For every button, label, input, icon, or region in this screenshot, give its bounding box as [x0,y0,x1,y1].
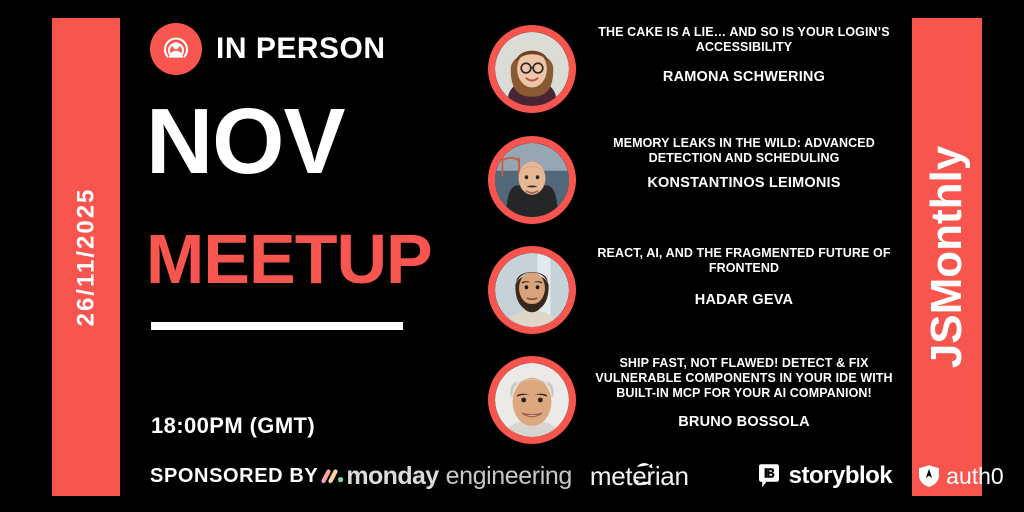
avatar [488,25,576,113]
month-heading: NOV [146,100,345,184]
speaker-name: BRUNO BOSSOLA [586,414,902,430]
talk-title: SHIP FAST, NOT FLAWED! DETECT & FIX VULN… [586,356,902,400]
speakers-list: THE CAKE IS A LIE… AND SO IS YOUR LOGIN’… [488,0,908,512]
in-person-broadcast-icon [150,23,202,75]
meetup-poster: 26/11/2025 JSMonthly IN PERSON NOV MEETU… [0,0,1024,512]
speaker-text: REACT, AI, AND THE FRAGMENTED FUTURE OF … [576,246,908,308]
avatar [488,136,576,224]
speaker-name: RAMONA SCHWERING [586,69,902,85]
meetup-heading: MEETUP [146,228,432,291]
speaker-row: REACT, AI, AND THE FRAGMENTED FUTURE OF … [488,246,908,334]
event-info-column: IN PERSON NOV MEETUP 18:00PM (GMT) [150,0,480,512]
auth0-wordmark: auth0 [946,463,1004,490]
brand-sidebar: JSMonthly [912,18,982,496]
speaker-text: SHIP FAST, NOT FLAWED! DETECT & FIX VULN… [576,356,908,430]
talk-title: THE CAKE IS A LIE… AND SO IS YOUR LOGIN’… [586,25,902,55]
in-person-label: IN PERSON [216,32,386,66]
talk-title: MEMORY LEAKS IN THE WILD: ADVANCED DETEC… [586,136,902,166]
event-date: 26/11/2025 [72,188,100,327]
date-sidebar: 26/11/2025 [52,18,120,496]
avatar [488,356,576,444]
auth0-shield-icon [918,464,940,488]
speaker-name: HADAR GEVA [586,292,902,308]
monday-slashes-icon [320,465,346,487]
event-time: 18:00PM (GMT) [151,413,315,439]
divider-rule [151,322,403,330]
talk-title: REACT, AI, AND THE FRAGMENTED FUTURE OF … [586,246,902,276]
speaker-row: THE CAKE IS A LIE… AND SO IS YOUR LOGIN’… [488,25,908,113]
sponsored-by-label: SPONSORED BY [150,465,318,488]
avatar [488,246,576,334]
speaker-text: THE CAKE IS A LIE… AND SO IS YOUR LOGIN’… [576,25,908,85]
speaker-text: MEMORY LEAKS IN THE WILD: ADVANCED DETEC… [576,136,908,191]
sponsor-logo-auth0: auth0 [918,461,1004,491]
monday-wordmark: monday [346,462,438,491]
in-person-badge-row: IN PERSON [150,23,386,75]
speaker-row: SHIP FAST, NOT FLAWED! DETECT & FIX VULN… [488,356,908,444]
speaker-row: MEMORY LEAKS IN THE WILD: ADVANCED DETEC… [488,136,908,224]
brand-name: JSMonthly [922,146,972,368]
speaker-name: KONSTANTINOS LEIMONIS [586,175,902,191]
